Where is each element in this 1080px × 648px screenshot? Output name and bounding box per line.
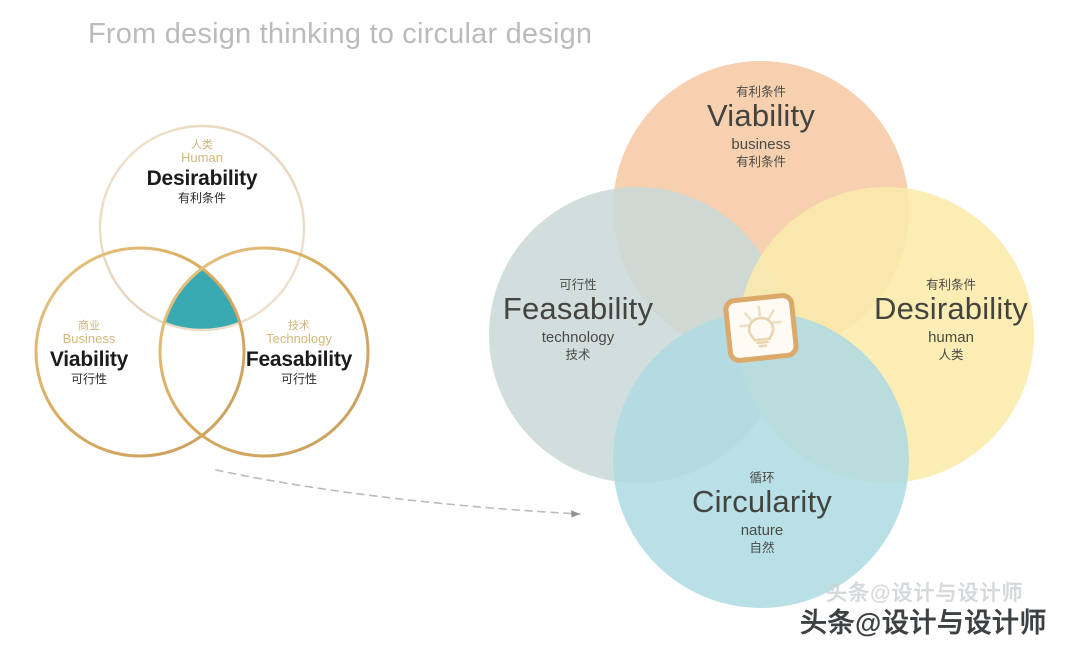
right-label-feasability: 可行性 Feasability technology 技术: [478, 278, 678, 362]
slide-canvas: From design thinking to circular design: [0, 0, 1080, 648]
lightbulb-icon: [725, 295, 797, 362]
right-label-viability: 有利条件 Viability business 有利条件: [641, 85, 881, 169]
right-viability-title: Viability: [641, 99, 881, 134]
right-feasability-en-bottom: technology: [478, 330, 678, 347]
watermark: 头条@设计与设计师: [800, 601, 1047, 640]
right-desirability-cn-top: 有利条件: [840, 278, 1062, 292]
right-label-circularity: 循环 Circularity nature 自然: [648, 471, 876, 555]
right-desirability-title: Desirability: [840, 292, 1062, 327]
right-label-desirability: 有利条件 Desirability human 人类: [840, 278, 1062, 362]
right-feasability-cn-bottom: 技术: [478, 348, 678, 362]
right-circularity-en-bottom: nature: [648, 523, 876, 540]
right-circularity-cn-top: 循环: [648, 471, 876, 485]
right-circularity-title: Circularity: [648, 485, 876, 520]
right-feasability-cn-top: 可行性: [478, 278, 678, 292]
right-viability-en-bottom: business: [641, 137, 881, 154]
right-desirability-en-bottom: human: [840, 330, 1062, 347]
right-feasability-title: Feasability: [478, 292, 678, 327]
right-desirability-cn-bottom: 人类: [840, 348, 1062, 362]
right-viability-cn-top: 有利条件: [641, 85, 881, 99]
right-circularity-cn-bottom: 自然: [648, 541, 876, 555]
right-viability-cn-bottom: 有利条件: [641, 155, 881, 169]
